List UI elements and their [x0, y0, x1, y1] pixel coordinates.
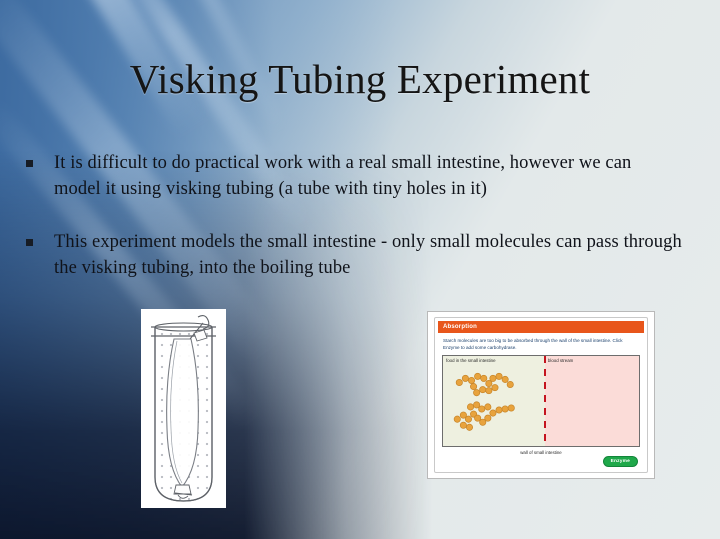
absorption-description: Starch molecules are too big to be absor…: [438, 333, 644, 354]
apparatus-drawing: [141, 309, 226, 508]
absorption-figure: Absorption Starch molecules are too big …: [427, 311, 655, 479]
square-bullet-icon: [26, 239, 33, 246]
absorption-button-row: Enzyme: [438, 456, 644, 469]
starch-molecules: [443, 356, 545, 438]
small-intestine-pane: food in the small intestine: [443, 356, 545, 446]
bullet-item: It is difficult to do practical work wit…: [26, 150, 682, 203]
visking-tubing-apparatus-image: [141, 309, 226, 508]
square-bullet-icon: [26, 160, 33, 167]
absorption-figure-inner: Absorption Starch molecules are too big …: [434, 317, 648, 473]
absorption-title-bar: Absorption: [438, 321, 644, 333]
bullet-text: This experiment models the small intesti…: [54, 229, 682, 282]
blood-stream-label: blood stream: [548, 358, 573, 363]
intestine-wall-caption: wall of small intestine: [438, 447, 644, 456]
enzyme-button[interactable]: Enzyme: [603, 456, 638, 467]
absorption-diagram: food in the small intestine: [442, 355, 640, 447]
intestine-wall-membrane: [544, 356, 547, 446]
bullet-list: It is difficult to do practical work wit…: [26, 150, 682, 307]
bullet-item: This experiment models the small intesti…: [26, 229, 682, 282]
bullet-text: It is difficult to do practical work wit…: [54, 150, 682, 203]
blood-stream-pane: blood stream: [545, 356, 639, 446]
slide-title: Visking Tubing Experiment: [0, 58, 720, 101]
slide-canvas: Visking Tubing Experiment It is difficul…: [0, 0, 720, 539]
